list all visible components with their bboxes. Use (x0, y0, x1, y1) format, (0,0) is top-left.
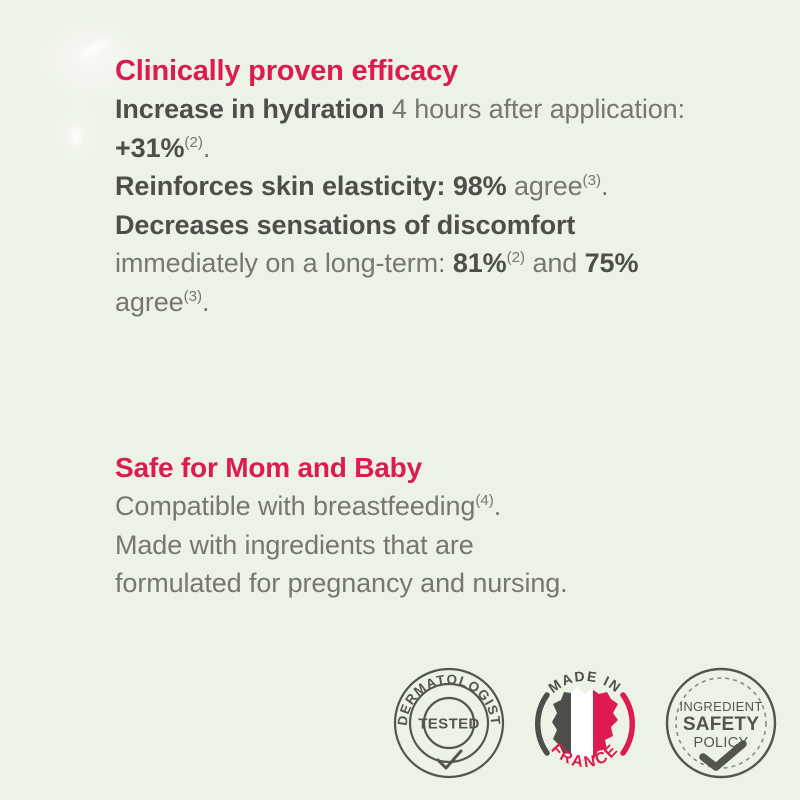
safety-heading: Safe for Mom and Baby (115, 449, 715, 487)
made-in-france-badge: MADE IN FRANCE (523, 661, 647, 785)
left-bracket-icon (538, 695, 547, 753)
elasticity-claim-rest: agree (507, 171, 583, 201)
footnote-marker-3a: (3) (583, 172, 601, 189)
discomfort-claim-value-1: 81% (453, 248, 507, 278)
breastfeeding-text: Compatible with breastfeeding (115, 491, 475, 521)
made-in-arc-label: MADE IN (545, 668, 625, 696)
elasticity-claim-end: . (601, 171, 608, 201)
efficacy-section: Clinically proven efficacy Increase in h… (115, 52, 715, 321)
safety-line-ingredients: Made with ingredients that are (115, 526, 715, 565)
ingredient-safety-policy-badge: INGREDIENT SAFETY POLICY (662, 664, 780, 782)
background-highlight-wisp-secondary (68, 127, 83, 145)
efficacy-heading: Clinically proven efficacy (115, 52, 715, 90)
right-bracket-icon (623, 695, 632, 753)
footnote-marker-2a: (2) (184, 134, 202, 151)
footnote-marker-3b: (3) (184, 288, 202, 305)
text-content: Clinically proven efficacy Increase in h… (115, 52, 715, 603)
promo-panel: Clinically proven efficacy Increase in h… (0, 0, 800, 800)
hydration-claim-value: +31% (115, 133, 184, 163)
efficacy-claim-hydration: Increase in hydration 4 hours after appl… (115, 90, 715, 167)
footnote-marker-4: (4) (475, 492, 493, 509)
tested-center-label: TESTED (418, 716, 480, 733)
hydration-claim-bold: Increase in hydration (115, 94, 384, 124)
check-icon (438, 751, 461, 768)
hydration-claim-rest: 4 hours after application: (384, 94, 684, 124)
safety-section: Safe for Mom and Baby Compatible with br… (115, 449, 715, 603)
safety-label: SAFETY (683, 714, 759, 735)
safety-line-formulated: formulated for pregnancy and nursing. (115, 564, 715, 603)
efficacy-claim-discomfort: Decreases sensations of discomfort immed… (115, 206, 715, 322)
background-highlight-wisp (78, 37, 112, 61)
dermatologist-tested-badge: DERMATOLOGIST TESTED (390, 664, 508, 782)
discomfort-claim-bold: Decreases sensations of discomfort (115, 210, 575, 240)
discomfort-claim-end: . (202, 287, 209, 317)
discomfort-claim-rest: immediately on a long-term: (115, 248, 453, 278)
certification-badges: DERMATOLOGIST TESTED (390, 658, 780, 788)
efficacy-claim-elasticity: Reinforces skin elasticity: 98% agree(3)… (115, 167, 715, 206)
ingredient-label: INGREDIENT (679, 699, 762, 714)
footnote-marker-2b: (2) (507, 249, 525, 266)
section-spacer (115, 321, 715, 449)
breastfeeding-end: . (494, 491, 501, 521)
hydration-claim-end: . (203, 133, 210, 163)
elasticity-claim-bold: Reinforces skin elasticity: 98% (115, 171, 507, 201)
discomfort-claim-mid: and (525, 248, 585, 278)
safety-line-breastfeeding: Compatible with breastfeeding(4). (115, 487, 715, 526)
discomfort-claim-tail: agree (115, 287, 184, 317)
discomfort-claim-value-2: 75% (585, 248, 639, 278)
